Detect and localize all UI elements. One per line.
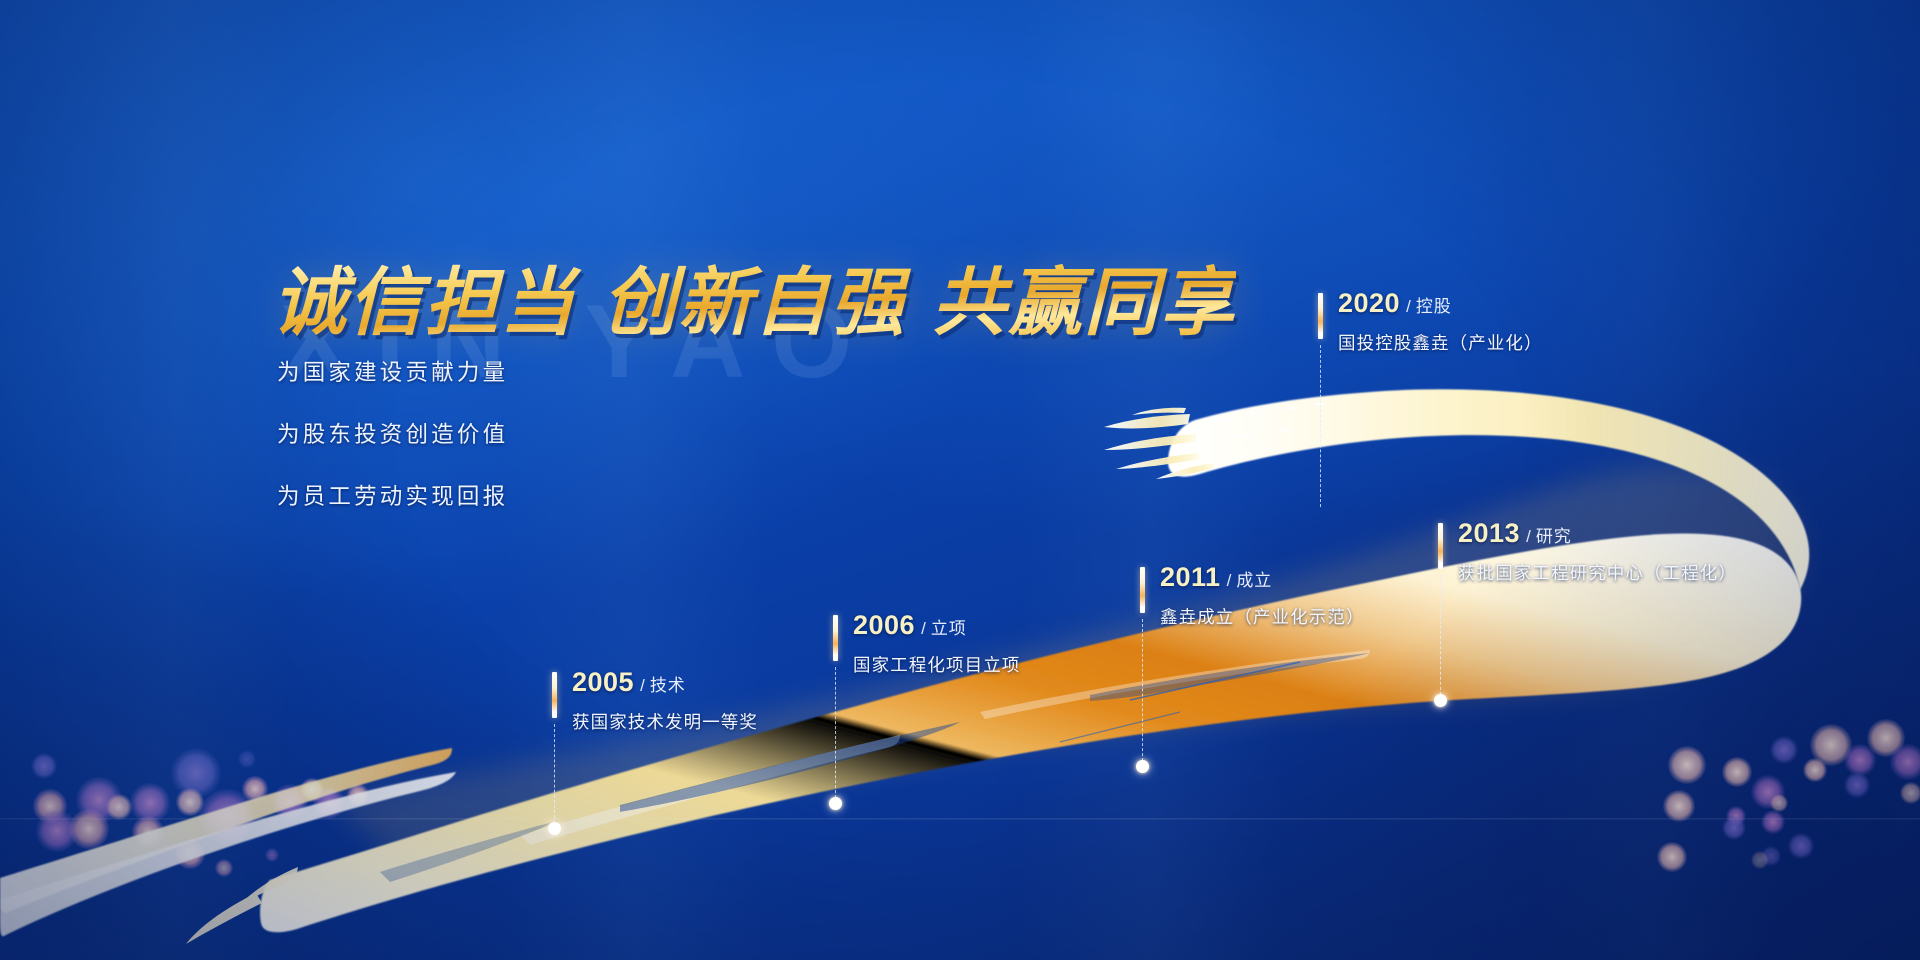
marker-headline-2005: 2005/技术 [572,669,758,696]
marker-accent-bar-2005 [552,672,557,718]
marker-separator-2020: / [1406,297,1411,316]
marker-separator-2005: / [640,676,645,695]
marker-stem-2006 [835,667,836,803]
marker-headline-2006: 2006/立项 [853,612,1020,639]
marker-separator-2013: / [1526,527,1531,546]
marker-accent-bar-2011 [1140,567,1145,613]
marker-tag-2013: 研究 [1536,527,1572,546]
marker-year-2005: 2005 [572,667,634,697]
marker-desc-2020: 国投控股鑫垚（产业化） [1338,330,1543,355]
marker-headline-2020: 2020/控股 [1338,290,1543,317]
marker-accent-bar-2006 [833,615,838,661]
marker-stem-2020 [1320,345,1321,507]
slogan-item-3: 为员工劳动实现回报 [277,479,508,511]
marker-tag-2005: 技术 [650,676,686,695]
marker-separator-2006: / [921,619,926,638]
marker-tag-2020: 控股 [1416,297,1452,316]
page-title: 诚信担当创新自强共赢同享 [272,243,1236,350]
marker-year-2006: 2006 [853,610,915,640]
marker-stem-2013 [1440,575,1441,700]
marker-headline-2011: 2011/成立 [1160,564,1365,591]
marker-tag-2011: 成立 [1236,571,1272,590]
marker-accent-bar-2013 [1438,523,1443,569]
headline-part-1: 诚信担当 [272,263,576,345]
marker-headline-2013: 2013/研究 [1458,520,1737,547]
marker-stem-2005 [554,724,555,828]
marker-accent-bar-2020 [1318,293,1323,339]
headline-part-3: 共赢同享 [932,263,1236,345]
marker-desc-2013: 获批国家工程研究中心（工程化） [1458,560,1737,585]
marker-text-2020: 2020/控股 国投控股鑫垚（产业化） [1338,290,1543,355]
marker-text-2006: 2006/立项 国家工程化项目立项 [853,612,1020,677]
marker-dot-2011 [1136,760,1149,773]
marker-separator-2011: / [1227,571,1232,590]
headline-part-2: 创新自强 [602,263,906,345]
marker-dot-2005 [548,822,561,835]
banner-stage: XIN YAO 诚信担当创新自强共赢同享 为国家建设贡献力量 为股东投资创造价值… [0,0,1920,960]
slogan-item-1: 为国家建设贡献力量 [277,355,508,387]
marker-stem-2011 [1142,619,1143,766]
marker-dot-2006 [829,797,842,810]
headline-block: XIN YAO 诚信担当创新自强共赢同享 [272,243,1236,350]
marker-year-2020: 2020 [1338,288,1400,318]
slogan-item-2: 为股东投资创造价值 [277,417,508,449]
slogan-list: 为国家建设贡献力量 为股东投资创造价值 为员工劳动实现回报 [277,355,508,541]
marker-text-2005: 2005/技术 获国家技术发明一等奖 [572,669,758,734]
marker-text-2011: 2011/成立 鑫垚成立（产业化示范） [1160,564,1365,629]
marker-year-2011: 2011 [1160,562,1221,592]
marker-desc-2011: 鑫垚成立（产业化示范） [1160,604,1365,629]
marker-desc-2006: 国家工程化项目立项 [853,652,1020,677]
marker-text-2013: 2013/研究 获批国家工程研究中心（工程化） [1458,520,1737,585]
marker-year-2013: 2013 [1458,518,1520,548]
marker-tag-2006: 立项 [931,619,967,638]
marker-dot-2013 [1434,694,1447,707]
marker-desc-2005: 获国家技术发明一等奖 [572,709,758,734]
